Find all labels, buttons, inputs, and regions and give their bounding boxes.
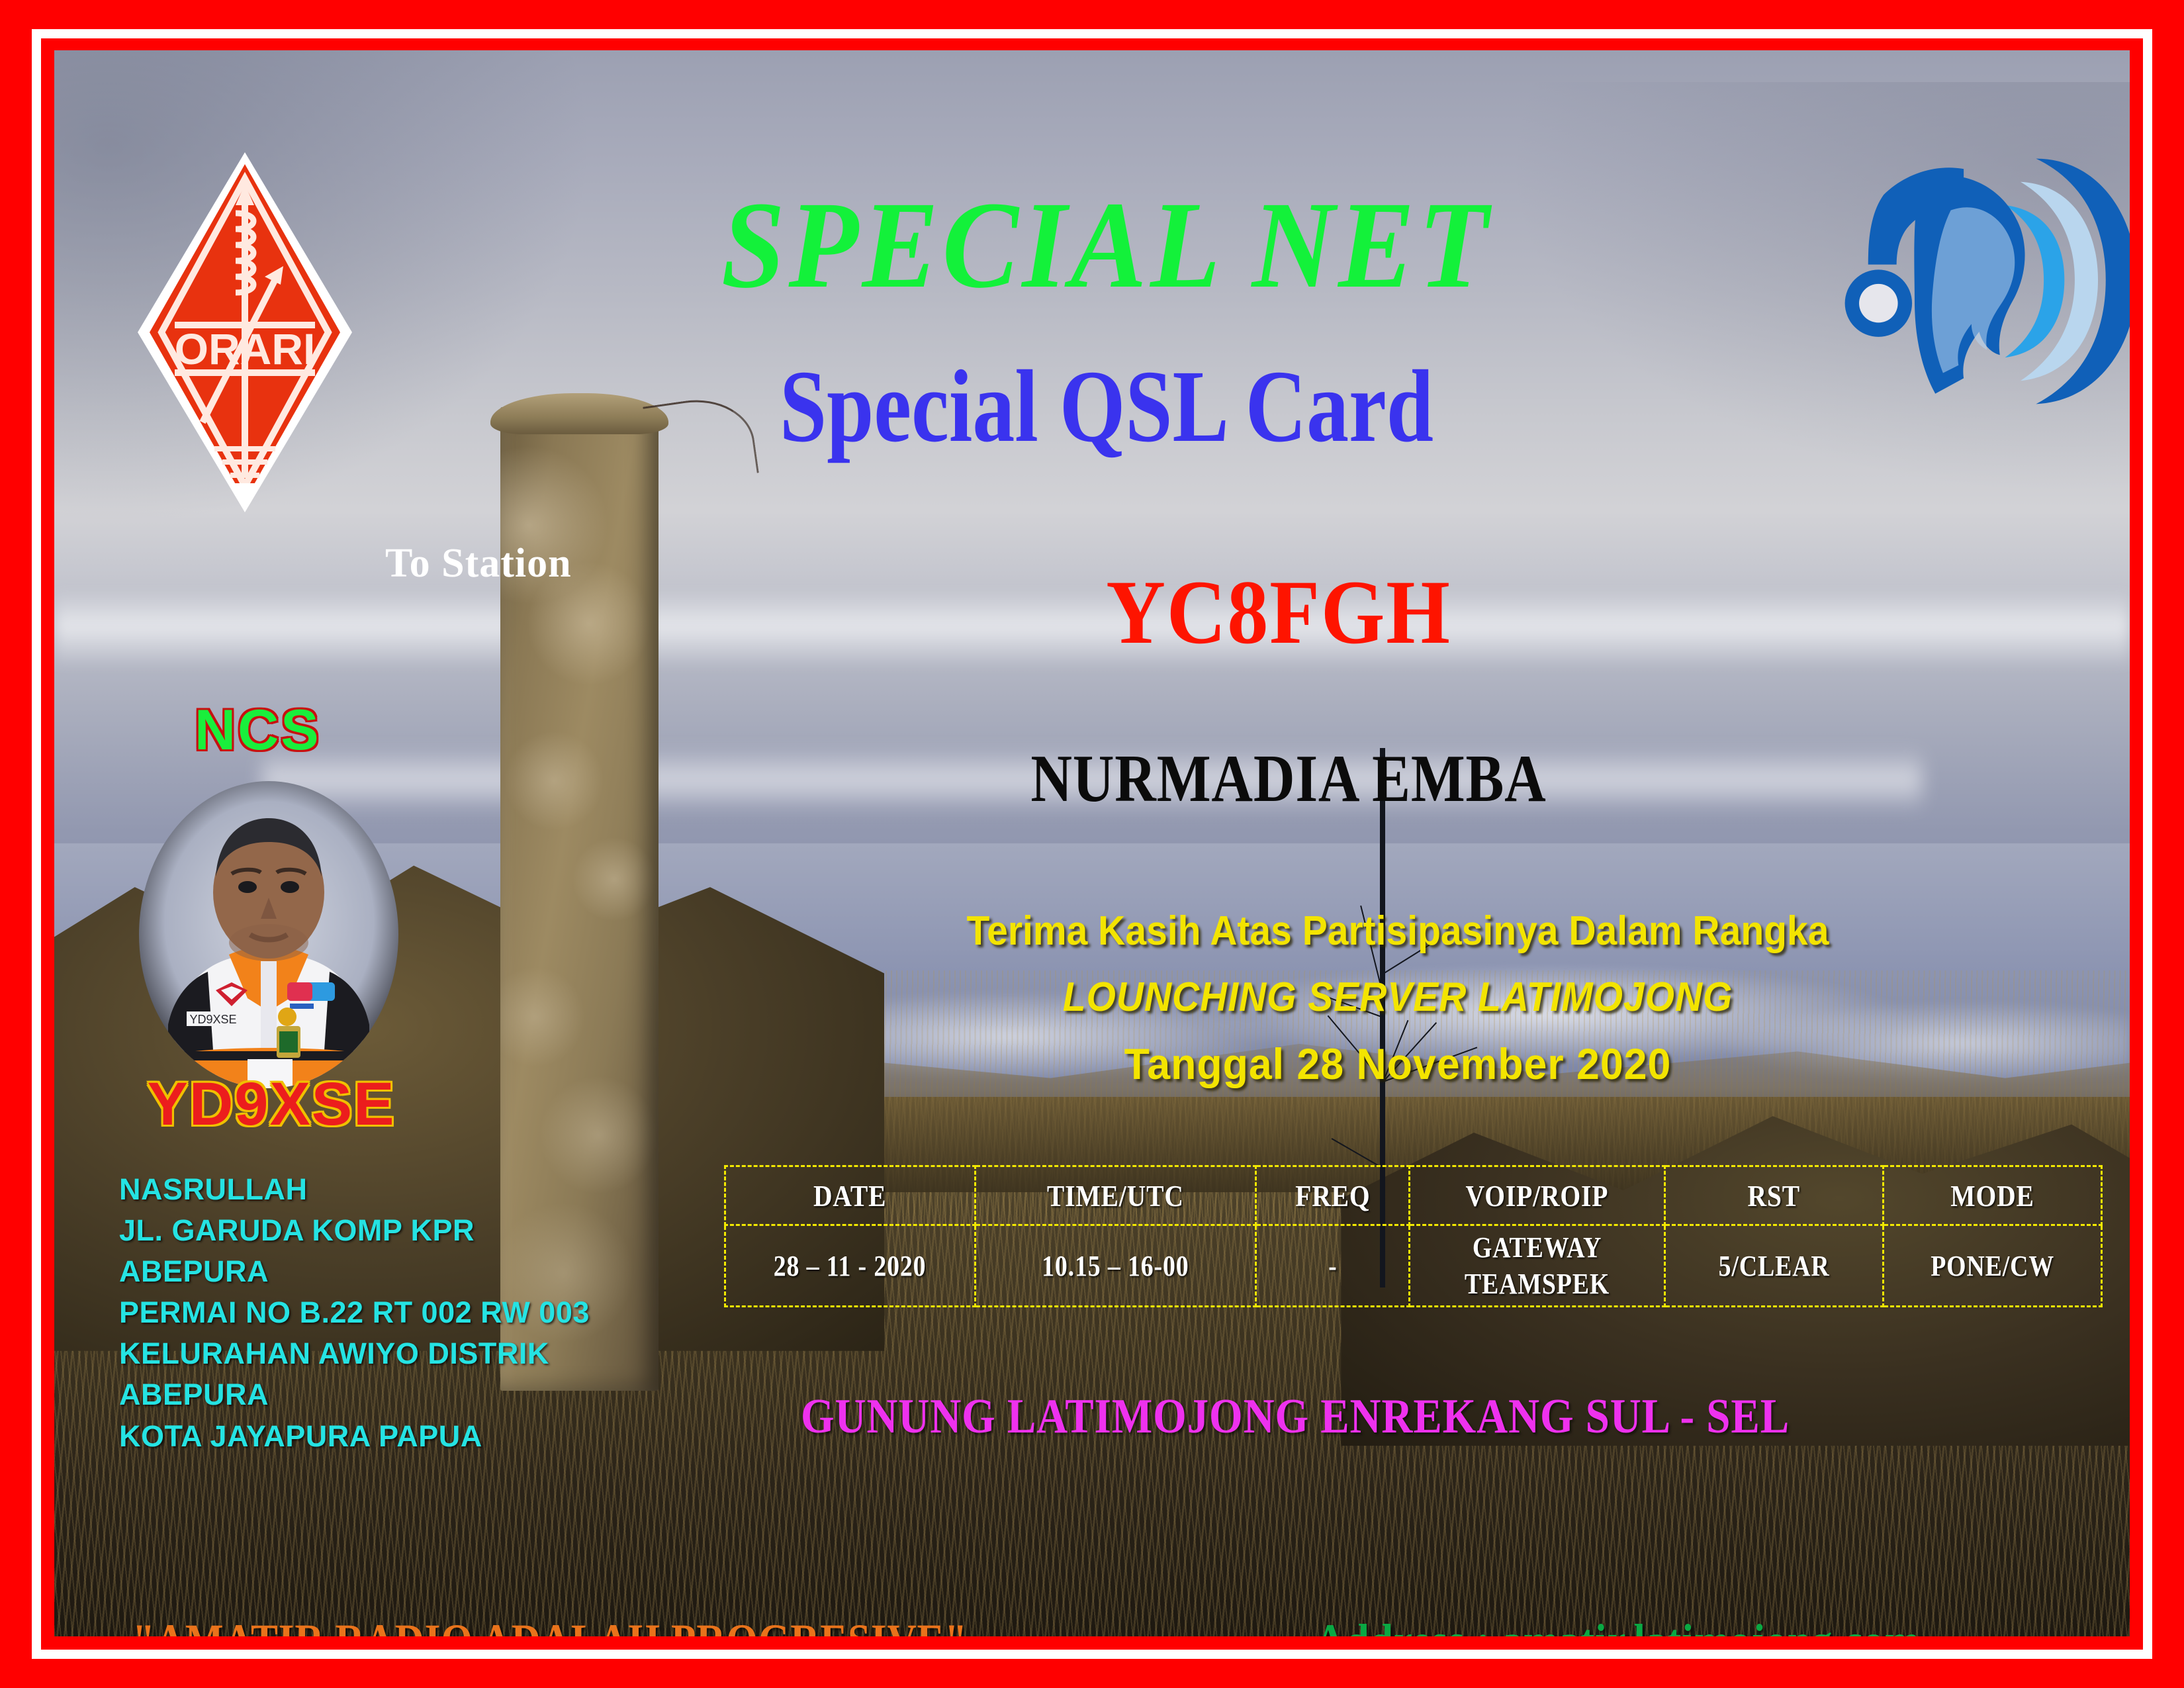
qsl-card: ORARI [0,0,2184,1688]
footer-web-address: Address : amatir.latimojong.com [1315,1614,1920,1636]
column-header-mode: MODE [1884,1166,2102,1225]
address-line: KELURAHAN AWIYO DISTRIK [119,1333,675,1374]
card-background-photo: ORARI [54,50,2130,1636]
cell-voip: GATEWAY TEAMSPEK [1410,1225,1665,1307]
column-header-rst: RST [1665,1166,1884,1225]
svg-text:YD9XSE: YD9XSE [189,1013,236,1026]
ncs-callsign: YD9XSE [139,1070,404,1139]
ncs-role-label: NCS [195,698,321,763]
event-thanks-line: Terima Kasih Atas Partisipasinya Dalam R… [819,911,1976,952]
address-block: NASRULLAH JL. GARUDA KOMP KPR ABEPURA PE… [119,1169,675,1457]
address-line: NASRULLAH [119,1169,675,1210]
station-callsign: YC8FGH [951,567,1606,658]
column-header-time: TIME/UTC [976,1166,1256,1225]
table-row: 28 – 11 - 2020 10.15 – 16-00 - GATEWAY T… [725,1225,2102,1307]
footer-motto: "AMATIR RADIO ADALAH PROGRESIVE" [132,1614,968,1636]
cell-time: 10.15 – 16-00 [976,1225,1256,1307]
cell-date: 28 – 11 - 2020 [725,1225,976,1307]
orari-logo-text: ORARI [175,324,316,373]
event-date-line: Tanggal 28 November 2020 [801,1042,1995,1086]
avatar: YD9XSE [134,778,405,1090]
cell-rst: 5/CLEAR [1665,1225,1884,1307]
address-line: PERMAI NO B.22 RT 002 RW 003 [119,1292,675,1333]
page-title: SPECIAL NET [528,183,1685,307]
event-name: LOUNCHING SERVER LATIMOJONG [819,977,1976,1018]
column-header-freq: FREQ [1256,1166,1410,1225]
address-line: ABEPURA [119,1374,675,1415]
qso-log-table: DATE TIME/UTC FREQ VOIP/ROIP RST MODE 28… [724,1165,2103,1307]
to-station-label: To Station [385,540,572,587]
address-line: JL. GARUDA KOMP KPR [119,1210,675,1251]
column-header-voip: VOIP/ROIP [1410,1166,1665,1225]
event-location: GUNUNG LATIMOJONG ENREKANG SUL - SEL [756,1389,1834,1445]
cell-mode: PONE/CW [1884,1225,2102,1307]
page-subtitle: Special QSL Card [591,355,1622,458]
station-operator-name: NURMADIA EMBA [881,745,1697,813]
orari-logo: ORARI [132,147,357,518]
content-layer: ORARI [54,50,2130,1636]
headphone-waves-logo [1844,148,2130,413]
cell-freq: - [1256,1225,1410,1307]
column-header-date: DATE [725,1166,976,1225]
address-line: ABEPURA [119,1251,675,1292]
table-header-row: DATE TIME/UTC FREQ VOIP/ROIP RST MODE [725,1166,2102,1225]
address-line: KOTA JAYAPURA PAPUA [119,1416,675,1457]
